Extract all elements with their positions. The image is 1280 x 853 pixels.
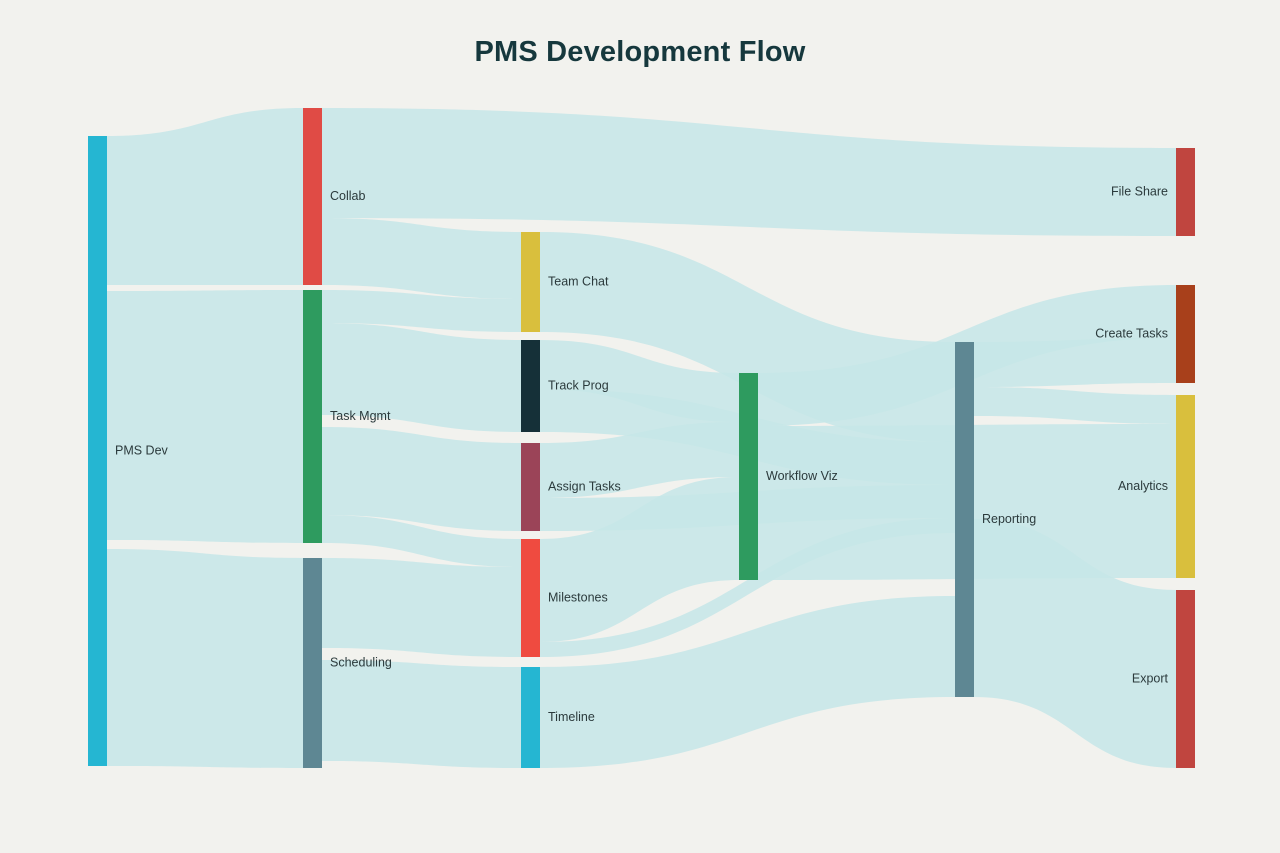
- sankey-link-pms_dev-to-scheduling[interactable]: [107, 549, 303, 768]
- sankey-link-reporting-to-export[interactable]: [974, 519, 1176, 768]
- sankey-link-timeline-to-reporting[interactable]: [540, 596, 955, 768]
- sankey-chart: PMS Development Flow PMS DevCollabTask M…: [0, 0, 1280, 853]
- sankey-link-collab-to-team_chat[interactable]: [322, 218, 521, 299]
- sankey-node-label-collab: Collab: [330, 189, 365, 203]
- sankey-node-label-task_mgmt: Task Mgmt: [330, 409, 391, 423]
- sankey-node-track_prog[interactable]: [521, 340, 540, 432]
- sankey-node-timeline[interactable]: [521, 667, 540, 768]
- sankey-node-label-workflow_viz: Workflow Viz: [766, 469, 838, 483]
- nodes-group: [88, 108, 1195, 768]
- sankey-link-scheduling-to-milestones[interactable]: [322, 558, 521, 657]
- sankey-node-label-reporting: Reporting: [982, 512, 1036, 526]
- sankey-node-label-analytics: Analytics: [1118, 479, 1168, 493]
- sankey-link-pms_dev-to-collab[interactable]: [107, 108, 303, 285]
- sankey-node-label-create_tasks: Create Tasks: [1095, 326, 1168, 340]
- sankey-svg-canvas: PMS DevCollabTask MgmtSchedulingTeam Cha…: [0, 0, 1280, 853]
- links-group: [107, 108, 1176, 768]
- sankey-node-workflow_viz[interactable]: [739, 373, 758, 580]
- sankey-link-reporting-to-analytics[interactable]: [974, 387, 1176, 424]
- sankey-node-label-pms_dev: PMS Dev: [115, 443, 169, 457]
- sankey-link-reporting-to-create_tasks[interactable]: [974, 338, 1176, 387]
- sankey-node-export[interactable]: [1176, 590, 1195, 768]
- sankey-node-label-file_share: File Share: [1111, 184, 1168, 198]
- sankey-node-scheduling[interactable]: [303, 558, 322, 768]
- sankey-link-pms_dev-to-task_mgmt[interactable]: [107, 290, 303, 543]
- sankey-node-label-team_chat: Team Chat: [548, 274, 609, 288]
- sankey-node-label-assign_tasks: Assign Tasks: [548, 479, 621, 493]
- sankey-link-scheduling-to-timeline[interactable]: [322, 660, 521, 768]
- sankey-node-label-scheduling: Scheduling: [330, 655, 392, 669]
- sankey-node-file_share[interactable]: [1176, 148, 1195, 236]
- sankey-node-team_chat[interactable]: [521, 232, 540, 332]
- sankey-node-label-milestones: Milestones: [548, 590, 608, 604]
- sankey-node-milestones[interactable]: [521, 539, 540, 657]
- sankey-node-collab[interactable]: [303, 108, 322, 285]
- sankey-node-pms_dev[interactable]: [88, 136, 107, 766]
- sankey-node-create_tasks[interactable]: [1176, 285, 1195, 383]
- sankey-node-assign_tasks[interactable]: [521, 443, 540, 531]
- sankey-node-label-export: Export: [1132, 671, 1169, 685]
- sankey-node-analytics[interactable]: [1176, 395, 1195, 578]
- sankey-node-label-track_prog: Track Prog: [548, 378, 609, 392]
- sankey-node-task_mgmt[interactable]: [303, 290, 322, 543]
- sankey-node-label-timeline: Timeline: [548, 710, 595, 724]
- sankey-link-collab-to-file_share[interactable]: [322, 108, 1176, 236]
- labels-group: PMS DevCollabTask MgmtSchedulingTeam Cha…: [115, 184, 1169, 724]
- sankey-link-task_mgmt-to-team_chat[interactable]: [322, 290, 521, 332]
- sankey-node-reporting[interactable]: [955, 342, 974, 697]
